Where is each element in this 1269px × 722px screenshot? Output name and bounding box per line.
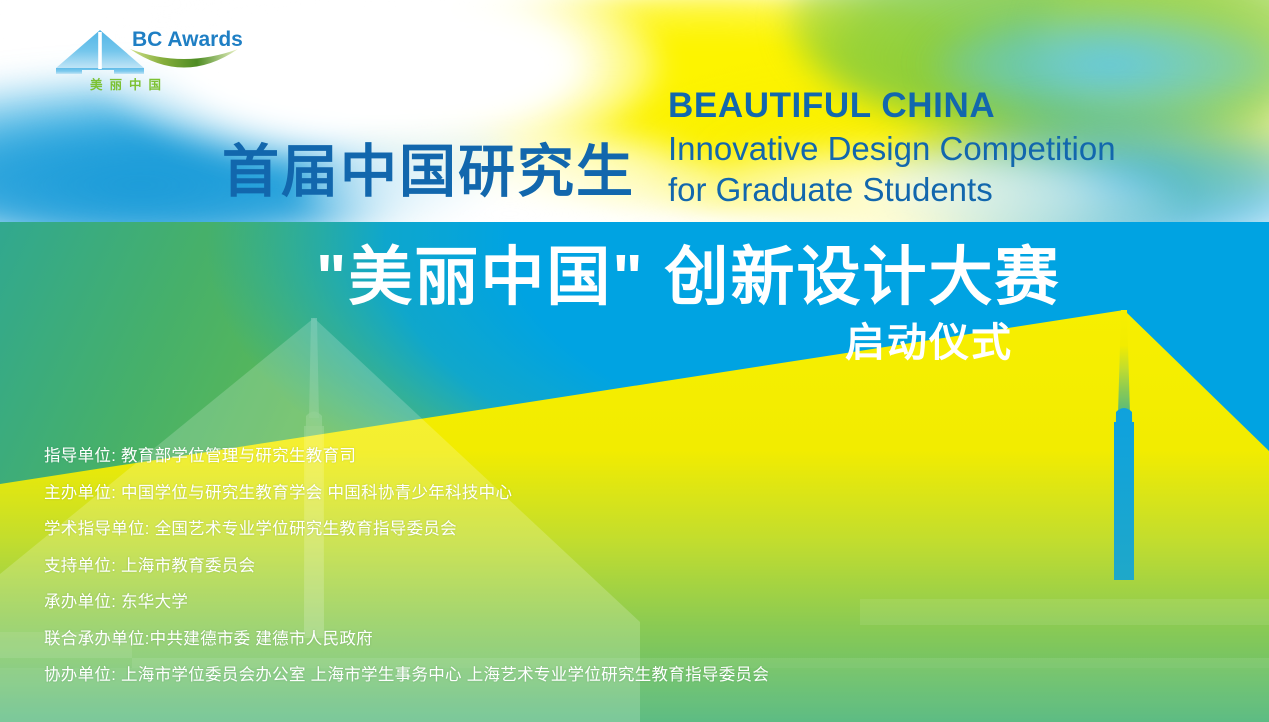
logo-brand-text: BC Awards — [132, 28, 243, 52]
english-title-block: BEAUTIFUL CHINA Innovative Design Compet… — [668, 88, 1116, 206]
english-title-line3: for Graduate Students — [668, 173, 1116, 206]
organizer-line: 学术指导单位: 全国艺术专业学位研究生教育指导委员会 — [44, 521, 769, 538]
organizer-line: 支持单位: 上海市教育委员会 — [44, 558, 769, 575]
organizer-line: 联合承办单位:中共建德市委 建德市人民政府 — [44, 631, 769, 648]
main-subtitle: 启动仪式 — [845, 323, 1013, 363]
logo-brand-cn: 美丽中国 — [90, 74, 168, 93]
organizer-line: 承办单位: 东华大学 — [44, 594, 769, 611]
headline-cn-top: 首届中国研究生 — [222, 144, 635, 201]
bc-awards-logo: BC Awards 美丽中国 — [52, 24, 282, 96]
event-banner: BC Awards 美丽中国 首届中国研究生 BEAUTIFUL CHINA I… — [0, 0, 1269, 722]
english-title-line2: Innovative Design Competition — [668, 132, 1116, 165]
english-title-line1: BEAUTIFUL CHINA — [668, 88, 1116, 123]
main-title: "美丽中国" 创新设计大赛 — [316, 245, 1060, 309]
bridge-mountain-icon — [56, 30, 144, 74]
bridge-deck-right — [860, 599, 1269, 625]
organizer-list: 指导单位: 教育部学位管理与研究生教育司 主办单位: 中国学位与研究生教育学会 … — [44, 448, 769, 684]
organizer-line: 主办单位: 中国学位与研究生教育学会 中国科协青少年科技中心 — [44, 485, 769, 502]
organizer-line: 协办单位: 上海市学位委员会办公室 上海市学生事务中心 上海艺术专业学位研究生教… — [44, 667, 769, 684]
organizer-line: 指导单位: 教育部学位管理与研究生教育司 — [44, 448, 769, 465]
